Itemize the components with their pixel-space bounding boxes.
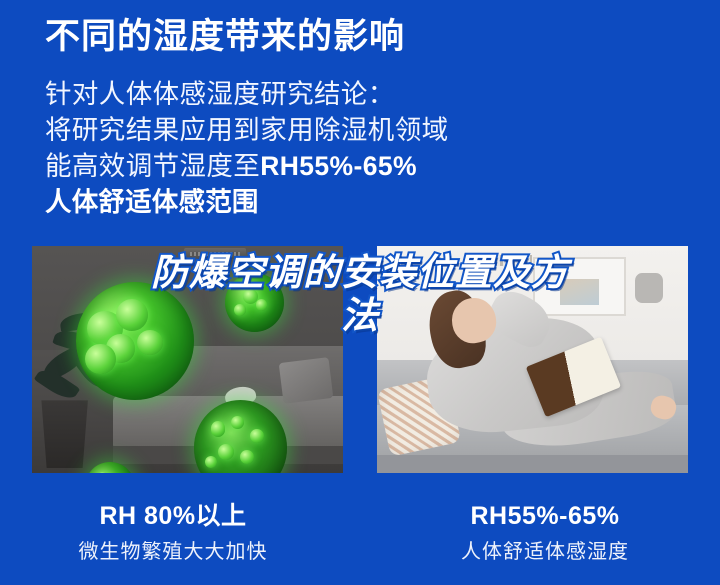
header-line-1: 针对人体体感湿度研究结论： [45, 76, 665, 112]
caption-left: RH 80%以上 微生物繁殖大大加快 [0, 500, 360, 565]
page-title: 不同的湿度带来的影响 [45, 16, 665, 59]
caption-row: RH 80%以上 微生物繁殖大大加快 RH55%-65% 人体舒适体感湿度 [0, 500, 720, 565]
caption-left-title: RH 80%以上 [0, 500, 346, 533]
microbe-sphere-large [76, 282, 194, 400]
photo-panel-left [32, 246, 343, 473]
plant-pot [38, 400, 91, 468]
wall-picture-frame [533, 257, 626, 316]
right-room-scene [377, 246, 688, 473]
header-line-2: 将研究结果应用到家用除湿机领域 [45, 112, 665, 148]
header-body-lines: 针对人体体感湿度研究结论： 将研究结果应用到家用除湿机领域 能高效调节湿度至RH… [45, 76, 665, 220]
wall-speaker [635, 273, 663, 303]
photo-panel-right [377, 246, 688, 473]
header-line-3: 能高效调节湿度至RH55%-65% [45, 148, 665, 184]
header-line-4: 人体舒适体感范围 [45, 184, 665, 220]
header-line-3-range: RH55%-65% [260, 151, 417, 181]
caption-right: RH55%-65% 人体舒适体感湿度 [360, 500, 720, 565]
right-sofa-base [377, 455, 688, 473]
microbe-sphere-small [225, 273, 284, 332]
caption-right-subtitle: 人体舒适体感湿度 [370, 539, 720, 565]
caption-left-subtitle: 微生物繁殖大大加快 [0, 539, 346, 565]
air-conditioner-icon [184, 248, 246, 259]
caption-right-title: RH55%-65% [370, 500, 720, 533]
poster-canvas: 不同的湿度带来的影响 针对人体体感湿度研究结论： 将研究结果应用到家用除湿机领域… [0, 0, 720, 585]
wall-shelf [464, 255, 532, 266]
left-cushion [279, 357, 333, 404]
left-room-scene [32, 246, 343, 473]
header-text-block: 不同的湿度带来的影响 针对人体体感湿度研究结论： 将研究结果应用到家用除湿机领域… [45, 16, 665, 220]
header-line-3-plain: 能高效调节湿度至 [45, 151, 260, 181]
